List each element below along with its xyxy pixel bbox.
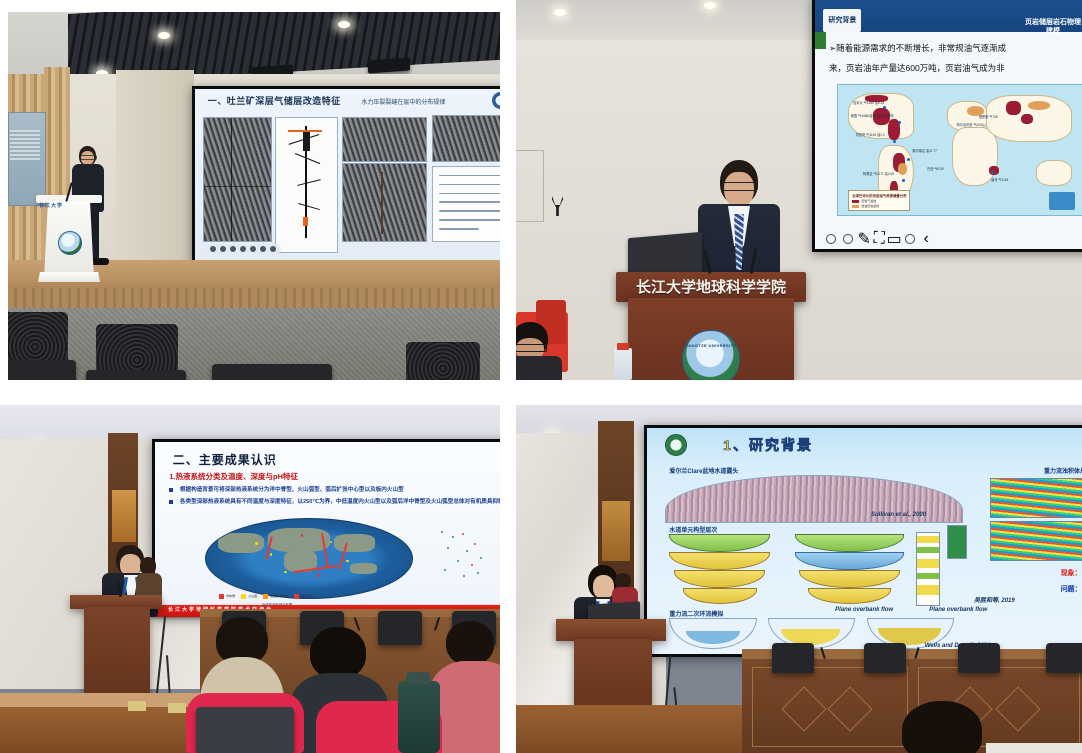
pen-icon[interactable]: ✎ (860, 235, 868, 243)
led-screen: 页岩储层岩石物理 建模 研究背景 ➢随着能源需求的不断增长，非常规油气逐渐成 来… (812, 0, 1082, 252)
fracture-diagram-panel-b (275, 117, 338, 253)
settings-icon[interactable] (260, 246, 266, 252)
section-label-outcrop: 爱尔兰Clare盆地水道露头 (669, 466, 738, 475)
world-map-vents (205, 518, 413, 599)
legend-label: 弧后扩张中心 (270, 594, 288, 598)
audience-member (516, 322, 558, 380)
seal-text: YANGTZE UNIVERSITY (685, 343, 736, 348)
university-seal (58, 231, 82, 255)
chair-seat (8, 360, 76, 380)
map-region-label: 阿尔及利亚 气4000 (957, 124, 984, 128)
slide-surface: 一、吐兰矿深层气储层改造特征 水力压裂裂缝在层中的分布规律 (195, 89, 500, 261)
university-seal: YANGTZE UNIVERSITY (682, 330, 740, 380)
chair-seat (212, 364, 332, 380)
slide-title: 二、主要成果认识 (173, 451, 277, 468)
fullscreen-icon[interactable] (240, 246, 246, 252)
slide-surface: 二、主要成果认识 1.热液系统分类及温度、深度与pH特征 根据构造背景可将深部热… (155, 442, 500, 614)
play-icon[interactable] (210, 246, 216, 252)
blinds (10, 130, 40, 160)
legend-label: 页岩气盆地 (861, 199, 876, 203)
audience-member (432, 621, 500, 753)
question-label: 问题： (1061, 584, 1082, 594)
map-region-label: 墨西哥 气1145 油1.3 (856, 134, 885, 138)
slide-body-line-2: 来，页岩油年产量达600万吨，页岩油气成为非 (829, 62, 1005, 74)
pen-icon[interactable] (230, 246, 236, 252)
phenomenon-label: 现象： (1061, 568, 1082, 578)
downlight (554, 9, 566, 16)
well-log-colour-bar (947, 525, 967, 559)
photo-top-left: 一、吐兰矿深层气储层改造特征 水力压裂裂缝在层中的分布规律 (8, 12, 500, 380)
africa (952, 127, 998, 186)
back-icon[interactable]: ‹ (922, 235, 930, 243)
floor-object (128, 701, 146, 711)
section-label-architecture: 水道单元构型层次 (669, 525, 717, 534)
slide-toolbar[interactable] (205, 244, 281, 254)
chair-seat (86, 370, 186, 380)
map-region-label: 阿根廷 气2271 油2.69 (863, 173, 894, 177)
architecture-lens (795, 552, 905, 570)
map-region-label: 委内瑞拉 油11.77 (912, 150, 937, 154)
landmass (350, 563, 377, 574)
architecture-lens (683, 588, 757, 604)
map-marker (991, 171, 994, 174)
slide-section-tab: 研究背景 (823, 9, 861, 32)
map-legend: 洋中脊 火山弧 弧后扩张中心 板内火山 (219, 594, 313, 599)
photo-collage: 一、吐兰矿深层气储层改造特征 水力压裂裂缝在层中的分布规律 (0, 0, 1082, 753)
section-label-turbidite: 重力流浊积体片 (1044, 466, 1082, 475)
landmass (334, 534, 375, 551)
map-region-label: 俄罗斯 气755 (979, 116, 998, 120)
slide-section-label: 研究背景 (828, 15, 856, 25)
pause-icon[interactable] (843, 234, 853, 244)
led-screen: 一、吐兰矿深层气储层改造特征 水力压裂裂缝在层中的分布规律 (192, 86, 500, 264)
legend-label: 板内火山 (301, 594, 313, 598)
slide-subtitle: 1.热液系统分类及温度、深度与pH特征 (169, 471, 298, 482)
slide-body-line-1: ➢随着能源需求的不断增长，非常规油气逐渐成 (829, 42, 1006, 54)
core-photo-panel-a (203, 117, 272, 243)
architecture-lens (674, 570, 766, 588)
legend-swatch (852, 205, 859, 208)
photo-top-right: 页岩储层岩石物理 建模 研究背景 ➢随着能源需求的不断增长，非常规油气逐渐成 来… (516, 0, 1082, 380)
audience-member (886, 701, 996, 753)
legend-swatch (852, 200, 859, 203)
podium-label: 长江大学 (39, 202, 63, 209)
screen-toolbar[interactable]: ✎ ⛶ ▭ ‹ (826, 234, 930, 244)
water-bottle (614, 348, 632, 380)
seismic-section (990, 521, 1082, 561)
floor (516, 705, 742, 753)
fullscreen-icon[interactable]: ⛶ (875, 235, 883, 243)
citation-3: 吴胜和等, 2019 (974, 595, 1015, 604)
slide-band-title: 页岩储层岩石物理 建模 (1025, 19, 1081, 37)
architecture-lens (808, 588, 891, 604)
wall-light (112, 490, 136, 542)
chair (958, 643, 1000, 673)
section-label-simulation: 重力流二次环流模拟 (669, 609, 723, 618)
legend-label: 洋中脊 (226, 594, 235, 598)
flow-label-2: Plane overbank flow (929, 607, 987, 613)
glasses-icon (516, 344, 547, 352)
led-screen: 1、研究背景 爱尔兰Clare盆地水道露头 Sullivan et al., 2… (644, 425, 1082, 657)
keyboard-icon[interactable] (250, 246, 256, 252)
slide-title: 一、吐兰矿深层气储层改造特征 (208, 94, 341, 107)
architecture-lens (669, 534, 770, 552)
architecture-lens (669, 552, 770, 570)
pause-icon[interactable] (220, 246, 226, 252)
australia (1036, 160, 1072, 185)
slide-surface: 1、研究背景 爱尔兰Clare盆地水道露头 Sullivan et al., 2… (647, 428, 1082, 654)
chair (864, 643, 906, 673)
chair (772, 643, 814, 673)
photo-bottom-left: 二、主要成果认识 1.热液系统分类及温度、深度与pH特征 根据构造背景可将深部热… (0, 405, 500, 753)
thermos-bottle (398, 681, 440, 753)
downlight (338, 21, 350, 28)
seismic-section (990, 478, 1082, 518)
wall-panel (516, 150, 544, 222)
wall-panel (116, 70, 194, 265)
legend-title: 全球已评价的页岩油气资源储量分布 (852, 193, 906, 198)
slide-subtitle: 水力压裂裂缝在层中的分布规律 (361, 97, 445, 106)
map-region-label: 南非 气1104 (991, 179, 1008, 183)
citation-1: Sullivan et al., 2000 (871, 512, 926, 518)
simulation-panel (669, 618, 756, 649)
podium-base (38, 272, 100, 282)
chair-seat (196, 707, 294, 753)
core-photo-panel-d (342, 163, 427, 242)
core-photo-panel-e (432, 115, 500, 162)
world-shale-map: 加拿大 气1635 油5.23 美国 气4465/油48 油7233万吨 墨西哥… (837, 84, 1082, 216)
glasses-icon (722, 182, 758, 191)
wall-light (602, 501, 630, 561)
chair (1046, 643, 1082, 673)
map-region-label: 美国 气4465/油48 油7233万吨 (851, 115, 894, 119)
play-icon[interactable] (826, 234, 836, 244)
podium (44, 201, 94, 279)
landmass (268, 528, 330, 552)
bullet-marker (169, 488, 173, 492)
university-logo-icon (665, 434, 687, 456)
well-log (916, 532, 940, 606)
map-source-logo-icon (1049, 192, 1075, 210)
floor-object (168, 703, 186, 713)
scatter-plot (426, 521, 500, 590)
map-region-label: 巴西 气6.59 (927, 168, 944, 172)
slide-text-box (432, 166, 500, 242)
architecture-lens (799, 570, 900, 588)
university-logo-icon (492, 92, 500, 109)
slide-surface: 页岩储层岩石物理 建模 研究背景 ➢随着能源需求的不断增长，非常规油气逐渐成 来… (815, 0, 1082, 249)
stage-front (8, 288, 500, 310)
glasses-icon (80, 155, 97, 160)
podium-label: 长江大学地球科学学院 (636, 276, 786, 297)
oil-shale-basin (1028, 101, 1050, 110)
downlight (704, 2, 716, 9)
bullet-marker (169, 500, 173, 504)
shale-basin (1006, 101, 1021, 115)
legend-label: 含油页岩盆地 (861, 204, 879, 208)
chair (406, 342, 480, 380)
map-legend: 全球已评价的页岩油气资源储量分布 页岩气盆地 含油页岩盆地 (848, 190, 910, 211)
slide-bullet-2: 各类型深部热液系统具有不同温度与深度特征，以250℃为界，中低温度内火山型以及弧… (180, 497, 500, 505)
photo-bottom-right: 1、研究背景 爱尔兰Clare盆地水道露头 Sullivan et al., 2… (516, 405, 1082, 753)
shale-basin (1021, 114, 1033, 124)
flow-label-1: Plane overbank flow (835, 607, 893, 613)
legend-label: 火山弧 (248, 594, 257, 598)
accent-chip (815, 32, 826, 50)
back-icon[interactable] (270, 246, 276, 252)
keyboard-icon[interactable]: ▭ (890, 235, 898, 243)
slide-bullet-1: 根据构造背景可将深部热液系统分为洋中脊型、火山弧型、弧后扩张中心型以及板内火山型 (180, 485, 404, 493)
settings-icon[interactable] (905, 234, 915, 244)
map-marker (883, 106, 886, 109)
led-screen: 二、主要成果认识 1.热液系统分类及温度、深度与pH特征 根据构造背景可将深部热… (152, 439, 500, 617)
slide-title: 1、研究背景 (723, 435, 813, 455)
map-marker (893, 140, 896, 143)
downlight (158, 32, 170, 39)
oil-shale-basin (898, 163, 908, 175)
map-region-label: 加拿大 气1635 油5.23 (853, 102, 884, 106)
architecture-lens (795, 534, 905, 552)
table-paper (986, 743, 1082, 753)
podium-top (556, 619, 666, 641)
core-photo-panel-c (342, 117, 427, 162)
